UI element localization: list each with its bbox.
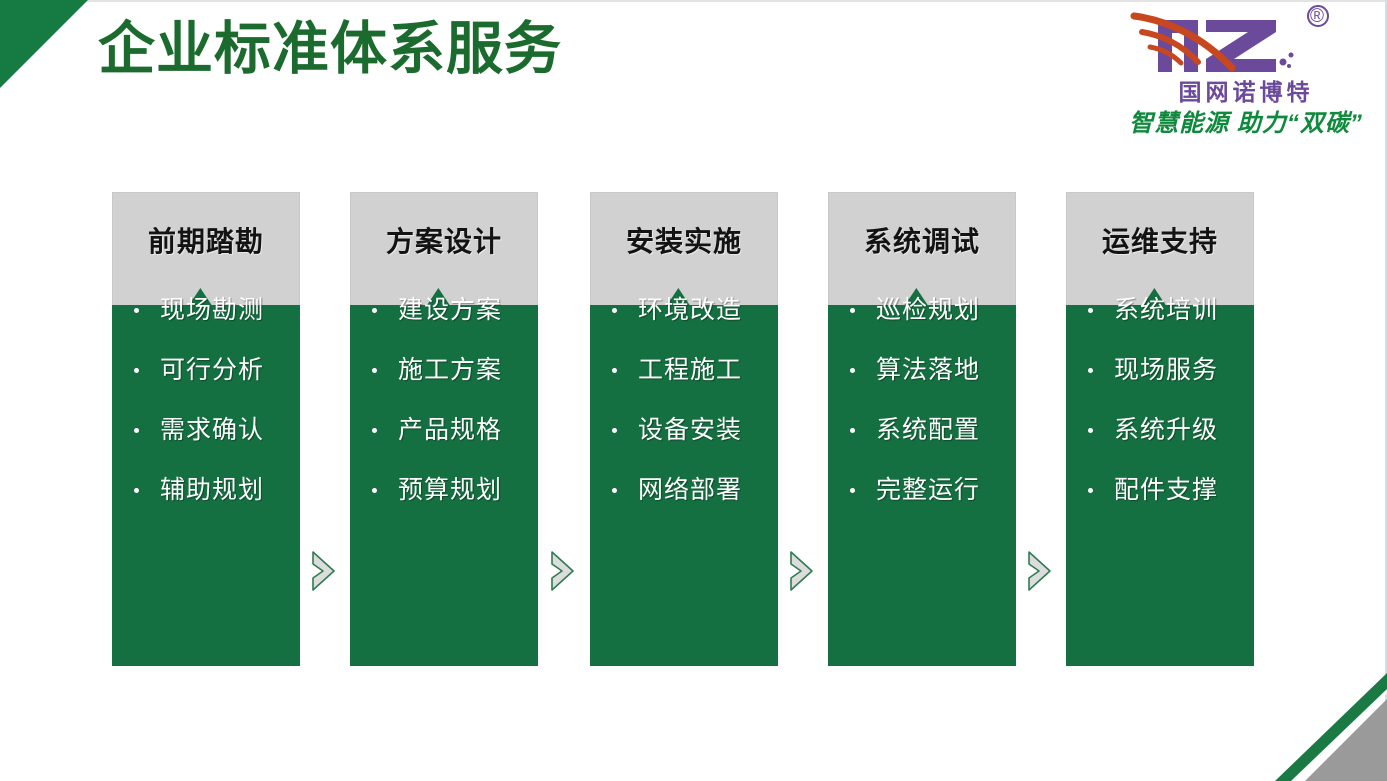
page-title: 企业标准体系服务 <box>98 12 562 86</box>
stage-item-list: 巡检规划 算法落地 系统配置 完整运行 <box>828 280 1016 520</box>
stage-item-list: 现场勘测 可行分析 需求确认 辅助规划 <box>112 280 300 520</box>
company-logo: ® 国网诺博特 智慧能源 助力“双碳” <box>1128 2 1378 142</box>
stage-title: 系统调试 <box>828 220 1016 260</box>
stage-title: 安装实施 <box>590 220 778 260</box>
chevron-right-icon <box>1026 550 1053 592</box>
list-item: 系统升级 <box>1066 400 1254 460</box>
process-stage-4[interactable]: 系统调试 巡检规划 算法落地 系统配置 完整运行 <box>828 192 1016 666</box>
chevron-right-icon <box>549 550 576 592</box>
chevron-right-icon <box>788 550 815 592</box>
list-item: 完整运行 <box>828 460 1016 520</box>
list-item: 可行分析 <box>112 340 300 400</box>
process-stage-2[interactable]: 方案设计 建设方案 施工方案 产品规格 预算规划 <box>350 192 538 666</box>
list-item: 工程施工 <box>590 340 778 400</box>
stage-item-list: 建设方案 施工方案 产品规格 预算规划 <box>350 280 538 520</box>
list-item: 预算规划 <box>350 460 538 520</box>
stage-title: 方案设计 <box>350 220 538 260</box>
list-item: 系统培训 <box>1066 280 1254 340</box>
stage-item-list: 系统培训 现场服务 系统升级 配件支撑 <box>1066 280 1254 520</box>
stage-item-list: 环境改造 工程施工 设备安装 网络部署 <box>590 280 778 520</box>
list-item: 产品规格 <box>350 400 538 460</box>
list-item: 辅助规划 <box>112 460 300 520</box>
list-item: 环境改造 <box>590 280 778 340</box>
logo-mark-icon <box>1128 2 1378 82</box>
list-item: 施工方案 <box>350 340 538 400</box>
process-stage-1[interactable]: 前期踏勘 现场勘测 可行分析 需求确认 辅助规划 <box>112 192 300 666</box>
logo-company-name: 国网诺博特 <box>1146 73 1346 107</box>
list-item: 现场勘测 <box>112 280 300 340</box>
list-item: 系统配置 <box>828 400 1016 460</box>
process-stage-5[interactable]: 运维支持 系统培训 现场服务 系统升级 配件支撑 <box>1066 192 1254 666</box>
corner-decoration-bottom-right <box>1257 671 1387 781</box>
slide-canvas: 企业标准体系服务 ® 国网诺博特 智慧能源 助力“双碳” 前期踏勘 <box>0 0 1387 781</box>
chevron-right-icon <box>310 550 337 592</box>
stage-title: 前期踏勘 <box>112 220 300 260</box>
list-item: 需求确认 <box>112 400 300 460</box>
list-item: 算法落地 <box>828 340 1016 400</box>
registered-trademark-icon: ® <box>1310 6 1324 28</box>
process-stage-3[interactable]: 安装实施 环境改造 工程施工 设备安装 网络部署 <box>590 192 778 666</box>
process-flow: 前期踏勘 现场勘测 可行分析 需求确认 辅助规划 方案设计 建设方案 <box>0 192 1387 672</box>
list-item: 建设方案 <box>350 280 538 340</box>
stage-title: 运维支持 <box>1066 220 1254 260</box>
list-item: 设备安装 <box>590 400 778 460</box>
corner-decoration-top-left <box>0 0 88 88</box>
list-item: 巡检规划 <box>828 280 1016 340</box>
logo-tagline: 智慧能源 助力“双碳” <box>1128 103 1364 138</box>
list-item: 网络部署 <box>590 460 778 520</box>
list-item: 现场服务 <box>1066 340 1254 400</box>
list-item: 配件支撑 <box>1066 460 1254 520</box>
